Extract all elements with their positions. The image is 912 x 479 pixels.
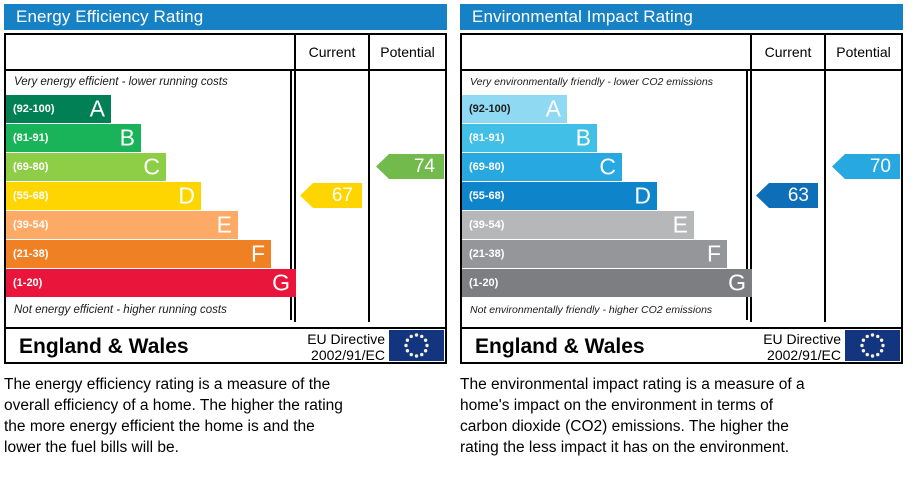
band-letter-label: C	[599, 156, 616, 179]
chart-description: The environmental impact rating is a mea…	[460, 374, 905, 458]
band-list: (92-100)A(81-91)B(69-80)C(55-68)D(39-54)…	[6, 95, 292, 298]
column-header-potential: Potential	[370, 44, 445, 60]
band-range-label: (81-91)	[13, 132, 48, 144]
band-letter-label: G	[728, 272, 746, 295]
band-b: (81-91)B	[462, 124, 597, 152]
energy-efficiency-chart-frame: Current Potential Very energy efficient …	[4, 33, 447, 364]
band-letter-label: D	[178, 185, 195, 208]
chart-footer: England & Wales EU Directive2002/91/EC	[460, 327, 903, 364]
eu-flag-icon	[389, 330, 444, 361]
band-range-label: (39-54)	[469, 219, 504, 231]
environmental-impact-panel: Environmental Impact Rating Current Pote…	[456, 0, 908, 479]
potential-rating-arrow: 70	[832, 154, 900, 179]
eu-stars-icon	[845, 330, 900, 361]
column-header-current: Current	[752, 44, 824, 60]
energy-efficiency-title-bar: Energy Efficiency Rating	[4, 4, 447, 30]
potential-rating-arrow: 74	[376, 154, 444, 179]
band-letter-label: A	[546, 98, 561, 121]
chart-description: The energy efficiency rating is a measur…	[4, 374, 449, 458]
band-range-label: (21-38)	[469, 248, 504, 260]
band-letter-label: B	[120, 127, 135, 150]
eu-directive-label: EU Directive2002/91/EC	[307, 331, 385, 363]
band-e: (39-54)E	[6, 211, 238, 239]
caption-top: Very energy efficient - lower running co…	[14, 76, 228, 88]
band-range-label: (92-100)	[469, 103, 511, 115]
column-divider-2	[824, 35, 826, 322]
band-letter-label: D	[634, 185, 651, 208]
band-letter-label: B	[576, 127, 591, 150]
band-b: (81-91)B	[6, 124, 141, 152]
band-d: (55-68)D	[6, 182, 201, 210]
column-divider-2	[368, 35, 370, 322]
caption-bottom: Not energy efficient - higher running co…	[14, 304, 227, 316]
band-letter-label: C	[143, 156, 160, 179]
band-f: (21-38)F	[462, 240, 727, 268]
column-header-current: Current	[296, 44, 368, 60]
column-header-potential: Potential	[826, 44, 901, 60]
region-label: England & Wales	[19, 335, 189, 359]
epc-chart-page: Energy Efficiency Rating Current Potenti…	[0, 0, 912, 479]
energy-efficiency-panel: Energy Efficiency Rating Current Potenti…	[0, 0, 452, 479]
eu-directive-label: EU Directive2002/91/EC	[763, 331, 841, 363]
band-d: (55-68)D	[462, 182, 657, 210]
band-range-label: (92-100)	[13, 103, 55, 115]
band-letter-label: F	[707, 243, 721, 266]
band-c: (69-80)C	[462, 153, 622, 181]
band-a: (92-100)A	[462, 95, 567, 123]
band-letter-label: A	[90, 98, 105, 121]
band-g: (1-20)G	[462, 269, 752, 297]
band-range-label: (21-38)	[13, 248, 48, 260]
band-g: (1-20)G	[6, 269, 296, 297]
band-letter-label: E	[673, 214, 688, 237]
band-area: Very energy efficient - lower running co…	[6, 71, 292, 320]
band-range-label: (1-20)	[469, 277, 498, 289]
band-a: (92-100)A	[6, 95, 111, 123]
eu-flag-icon	[845, 330, 900, 361]
caption-bottom: Not environmentally friendly - higher CO…	[470, 304, 712, 316]
caption-top: Very environmentally friendly - lower CO…	[470, 76, 713, 88]
band-letter-label: E	[217, 214, 232, 237]
band-letter-label: G	[272, 272, 290, 295]
environmental-impact-title-bar: Environmental Impact Rating	[460, 4, 903, 30]
chart-footer: England & Wales EU Directive2002/91/EC	[4, 327, 447, 364]
band-range-label: (69-80)	[13, 161, 48, 173]
eu-stars-icon	[389, 330, 444, 361]
band-range-label: (55-68)	[13, 190, 48, 202]
region-label: England & Wales	[475, 335, 645, 359]
band-range-label: (69-80)	[469, 161, 504, 173]
band-area: Very environmentally friendly - lower CO…	[462, 71, 748, 320]
page-title: Energy Efficiency Rating	[16, 7, 203, 27]
current-rating-arrow: 63	[756, 183, 818, 208]
band-e: (39-54)E	[462, 211, 694, 239]
band-f: (21-38)F	[6, 240, 271, 268]
band-list: (92-100)A(81-91)B(69-80)C(55-68)D(39-54)…	[462, 95, 748, 298]
page-title: Environmental Impact Rating	[472, 7, 693, 27]
band-range-label: (81-91)	[469, 132, 504, 144]
band-letter-label: F	[251, 243, 265, 266]
environmental-impact-chart-frame: Current Potential Very environmentally f…	[460, 33, 903, 364]
current-rating-arrow: 67	[300, 183, 362, 208]
band-range-label: (55-68)	[469, 190, 504, 202]
band-range-label: (39-54)	[13, 219, 48, 231]
band-c: (69-80)C	[6, 153, 166, 181]
band-range-label: (1-20)	[13, 277, 42, 289]
